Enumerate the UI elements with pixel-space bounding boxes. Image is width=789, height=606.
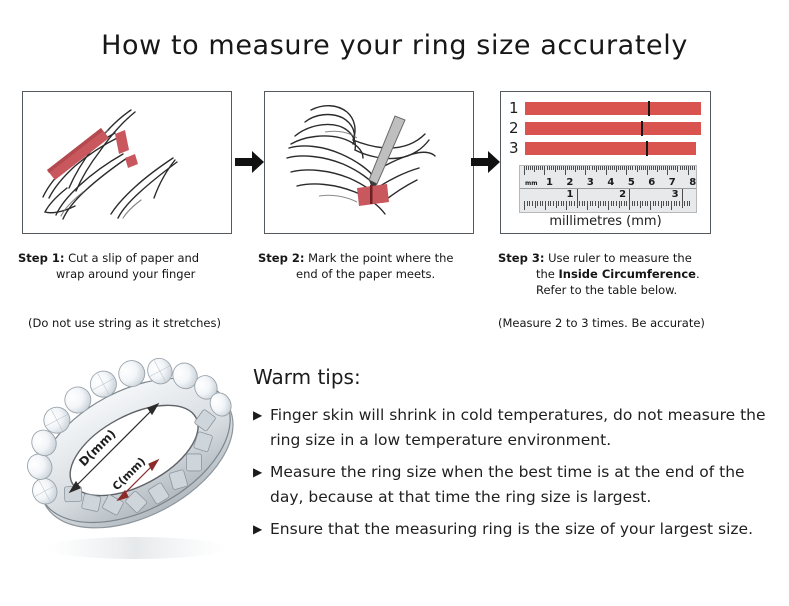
list-item: ▶ Measure the ring size when the best ti… <box>253 460 773 510</box>
ruler-unit-caption: millimetres (mm) <box>501 214 710 229</box>
paper-slip-on-finger-shape <box>357 184 389 206</box>
strip-bar <box>525 122 701 135</box>
ruler-tick <box>647 201 648 206</box>
ruler-tick <box>629 201 630 210</box>
ruler-tick <box>658 201 659 206</box>
ruler-tick <box>573 166 574 170</box>
ruler-tick <box>682 201 683 208</box>
ruler-tick <box>653 201 654 206</box>
ruler-tick <box>630 166 631 170</box>
ruler-tick <box>524 201 525 210</box>
step-3-caption: Step 3: Use ruler to measure the the Ins… <box>498 250 748 298</box>
step-3-note: (Measure 2 to 3 times. Be accurate) <box>498 315 763 331</box>
ruler-tick <box>659 166 660 170</box>
ruler-tick <box>563 201 564 206</box>
ruler-tick <box>645 166 646 170</box>
ruler-tick <box>626 166 627 175</box>
step-2-illustration-panel <box>264 91 474 234</box>
ruler-tick <box>657 166 658 172</box>
bullet-triangle-icon: ▶ <box>253 460 270 485</box>
ruler-tick <box>577 201 578 208</box>
ruler-tick <box>598 201 599 208</box>
ruler-tick <box>661 201 662 208</box>
strip-number: 1 <box>509 101 525 116</box>
ruler-tick <box>624 166 625 170</box>
hand-with-paper-slip-icon <box>23 92 231 233</box>
ruler-tick <box>550 201 551 206</box>
ruler-tick <box>667 166 668 175</box>
ruler-tick <box>608 201 609 210</box>
arrow-right-icon <box>232 148 266 176</box>
ruler-tick <box>542 201 543 206</box>
step-2-line1: Mark the point where the <box>304 251 453 265</box>
ruler-tick <box>537 201 538 206</box>
ruler-tick <box>563 166 564 170</box>
ruler-tick-label: 8 <box>689 178 696 188</box>
ruler-metric-scale: 12345678mm <box>520 166 696 189</box>
ruler-tick <box>545 201 546 210</box>
ruler-tick <box>598 166 599 170</box>
step-2-line2: end of the paper meets. <box>258 266 493 282</box>
ruler-tick <box>592 166 593 170</box>
ruler-tick <box>561 201 562 206</box>
ruler-tick <box>548 201 549 206</box>
ruler-tick <box>612 166 613 170</box>
ruler-tick <box>532 166 533 170</box>
paper-slip-wrapped-shape <box>115 130 138 168</box>
warm-tips-section: Warm tips: ▶ Finger skin will shrink in … <box>253 365 773 549</box>
ruler-tick <box>690 166 691 170</box>
ruler-tick <box>587 166 588 170</box>
step-2-caption: Step 2: Mark the point where the end of … <box>258 250 493 282</box>
ruler-tick <box>639 166 640 170</box>
ruler-tick-label: 3 <box>672 190 679 200</box>
bullet-triangle-icon: ▶ <box>253 517 270 542</box>
ruler-tick <box>679 201 680 206</box>
ruler-tick-label: 5 <box>628 178 635 188</box>
ruler-tick <box>529 201 530 206</box>
ruler-tick <box>561 166 562 170</box>
ruler-tick <box>687 201 688 206</box>
ruler-tick <box>589 166 590 170</box>
ruler-tick <box>668 201 669 206</box>
list-item: ▶ Ensure that the measuring ring is the … <box>253 517 773 542</box>
ruler-tick <box>587 201 588 210</box>
ruler-tick <box>532 201 533 206</box>
ring-diagram: D(mm) C(mm) <box>18 352 253 567</box>
ruler-tick <box>594 166 595 170</box>
ruler-tick-label: 7 <box>669 178 676 188</box>
ruler-tick <box>603 201 604 206</box>
ruler-tick <box>661 166 662 170</box>
ruler-tick <box>542 166 543 170</box>
ruler-tick <box>619 201 620 208</box>
ruler-tick <box>684 166 685 170</box>
ruler-tick <box>571 201 572 206</box>
eternity-ring-illustration-icon: D(mm) C(mm) <box>18 352 253 567</box>
strip-bar <box>525 102 701 115</box>
ruler-tick <box>538 166 539 170</box>
ruler-tick <box>694 166 695 170</box>
ruler-tick <box>650 201 651 210</box>
inside-circumference-emphasis: Inside Circumference <box>559 267 696 281</box>
pen-shape <box>369 116 405 192</box>
ruler-tick-label: 3 <box>587 178 594 188</box>
ruler-tick <box>577 166 578 170</box>
strip-bar <box>525 142 696 155</box>
ruler-tick <box>544 166 545 175</box>
ruler-tick <box>626 201 627 206</box>
step-3-illustration-panel: 1 2 3 12345678mm 123 millimet <box>500 91 711 234</box>
ruler-tick <box>655 166 656 170</box>
ruler-tick <box>651 166 652 170</box>
ruler-tick <box>585 166 586 175</box>
ruler-tick <box>579 201 580 206</box>
step-1-caption: Step 1: Cut a slip of paper and wrap aro… <box>18 250 248 282</box>
ruler-tick <box>624 201 625 206</box>
ruler-imperial-scale: 123 <box>520 189 696 212</box>
steps-panel-row: 1 2 3 12345678mm 123 millimet <box>22 91 711 236</box>
ruler-tick <box>655 201 656 206</box>
warm-tips-heading: Warm tips: <box>253 365 773 389</box>
ruler-tick <box>663 166 664 170</box>
strip-mark <box>641 121 643 136</box>
strip-mark <box>646 141 648 156</box>
ruler-tick <box>616 201 617 206</box>
ruler-tick <box>673 166 674 170</box>
ruler-tick <box>643 166 644 170</box>
ruler-tick <box>688 166 689 175</box>
tip-text: Measure the ring size when the best time… <box>270 460 773 510</box>
ruler-tick <box>610 166 611 170</box>
step-1-note: (Do not use string as it stretches) <box>28 315 278 331</box>
ruler-tick-label: 4 <box>607 178 614 188</box>
ruler-tick <box>682 166 683 170</box>
strip-row: 1 <box>509 100 705 117</box>
strip-row: 2 <box>509 120 705 137</box>
step-1-illustration-panel <box>22 91 232 234</box>
ruler-tick <box>596 166 597 172</box>
step-2-lead: Step 2: <box>258 251 304 265</box>
ruler-tick <box>558 201 559 206</box>
ruler-tick <box>676 201 677 206</box>
ruler-tick <box>534 166 535 172</box>
ruler-tick <box>582 201 583 206</box>
ruler-tick <box>602 166 603 170</box>
ruler-tick <box>671 166 672 170</box>
ruler-tick <box>579 166 580 170</box>
strip-row: 3 <box>509 140 705 157</box>
ruler-tick <box>547 166 548 170</box>
ruler-tick-label: 1 <box>567 190 574 200</box>
tip-text: Finger skin will shrink in cold temperat… <box>270 403 773 453</box>
ruler-tick-label: 2 <box>619 190 626 200</box>
ruler-tick-label: 2 <box>566 178 573 188</box>
ruler-tick <box>549 166 550 170</box>
ruler-tick <box>663 201 664 206</box>
ruler-tick <box>611 201 612 206</box>
ruler-tick <box>637 201 638 206</box>
ruler-tick <box>526 166 527 170</box>
ruler-tick <box>583 166 584 170</box>
ruler-tick <box>689 201 690 206</box>
bullet-triangle-icon: ▶ <box>253 403 270 428</box>
hand-marking-paper-icon <box>265 92 473 233</box>
ruler-tick <box>680 166 681 170</box>
ruler-tick <box>677 166 678 172</box>
ruler-tick <box>684 201 685 206</box>
ruler-tick <box>569 166 570 170</box>
ruler-tick <box>641 166 642 170</box>
measured-strips-group: 1 2 3 <box>509 100 705 160</box>
ruler-tick <box>592 201 593 206</box>
ruler-tick <box>600 201 601 206</box>
ruler-tick <box>555 166 556 172</box>
ruler-tick <box>634 201 635 206</box>
strip-mark <box>648 101 650 116</box>
ruler-tick <box>637 166 638 172</box>
ruler-tick <box>642 201 643 206</box>
ruler-tick <box>640 201 641 208</box>
ruler-tick <box>645 201 646 206</box>
ruler-tick <box>632 201 633 206</box>
ruler-tick <box>675 166 676 170</box>
ruler-tick <box>653 166 654 170</box>
ruler-tick <box>647 166 648 175</box>
ruler-tick <box>571 166 572 170</box>
ruler-tick <box>618 166 619 170</box>
ruler-tick <box>666 201 667 206</box>
arrow-right-icon <box>468 148 502 176</box>
ruler-tick <box>620 166 621 170</box>
ruler-tick <box>530 166 531 170</box>
ruler-tick <box>553 201 554 206</box>
ruler-graphic: 12345678mm 123 <box>519 165 697 213</box>
ruler-tick <box>575 166 576 172</box>
step-3-line2: the Inside Circumference. <box>498 266 748 282</box>
ruler-unit-label: mm <box>525 180 538 188</box>
ruler-tick <box>540 166 541 170</box>
ruler-tick <box>649 166 650 170</box>
ruler-tick <box>674 201 675 206</box>
step-3-lead: Step 3: <box>498 251 544 265</box>
ruler-tick <box>584 201 585 206</box>
ruler-tick <box>581 166 582 170</box>
ruler-tick <box>621 201 622 206</box>
ruler-tick <box>632 166 633 170</box>
ruler-tick <box>569 201 570 206</box>
ruler-tick <box>528 166 529 170</box>
ruler-tick <box>553 166 554 170</box>
ruler-tick <box>559 166 560 170</box>
step-1-line1: Cut a slip of paper and <box>64 251 199 265</box>
step-3-line2-pre: the <box>536 267 559 281</box>
ruler-tick <box>671 201 672 210</box>
ruler-tick <box>613 201 614 206</box>
ruler-tick <box>536 166 537 170</box>
ruler-tick-label: 6 <box>648 178 655 188</box>
paper-slip-shape <box>47 128 109 180</box>
strip-number: 2 <box>509 121 525 136</box>
ruler-tick <box>524 166 525 175</box>
page-title: How to measure your ring size accurately <box>0 30 789 61</box>
step-1-line2: wrap around your finger <box>18 266 248 282</box>
ruler-tick <box>669 166 670 170</box>
strip-number: 3 <box>509 141 525 156</box>
ruler-tick <box>567 166 568 170</box>
ruler-tick <box>566 201 567 210</box>
list-item: ▶ Finger skin will shrink in cold temper… <box>253 403 773 453</box>
step-3-line2-post: . <box>696 267 700 281</box>
ruler-tick <box>608 166 609 170</box>
step-3-line3: Refer to the table below. <box>498 282 748 298</box>
ruler-tick <box>686 166 687 170</box>
ruler-tick <box>565 166 566 175</box>
ruler-tick <box>590 201 591 206</box>
ruler-tick <box>574 201 575 206</box>
ruler-tick <box>535 201 536 208</box>
ruler-tick <box>604 166 605 170</box>
ruler-tick <box>665 166 666 170</box>
ruler-tick-label: 1 <box>546 178 553 188</box>
ruler-tick <box>622 166 623 170</box>
ruler-tick <box>595 201 596 206</box>
ruler-tick <box>527 201 528 206</box>
ruler-tick <box>556 201 557 208</box>
ruler-tick <box>628 166 629 170</box>
ruler-tick <box>614 166 615 170</box>
ruler-tick <box>551 166 552 170</box>
ruler-tick <box>606 166 607 175</box>
ruler-tick <box>635 166 636 170</box>
ruler-tick <box>616 166 617 172</box>
ruler-tick <box>540 201 541 206</box>
ruler-tick <box>605 201 606 206</box>
ruler-tick <box>600 166 601 170</box>
tip-text: Ensure that the measuring ring is the si… <box>270 517 773 542</box>
ruler-tick <box>557 166 558 170</box>
step-1-lead: Step 1: <box>18 251 64 265</box>
ruler-tick <box>692 166 693 170</box>
step-3-line1: Use ruler to measure the <box>544 251 691 265</box>
